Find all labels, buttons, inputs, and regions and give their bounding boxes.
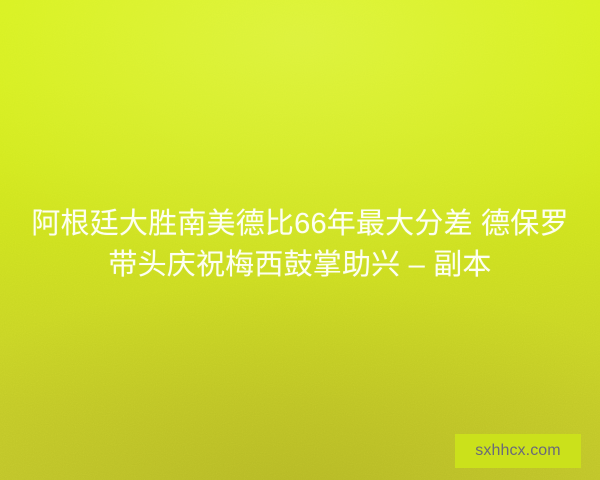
headline-text: 阿根廷大胜南美德比66年最大分差 德保罗带头庆祝梅西鼓掌助兴 – 副本: [0, 204, 600, 286]
watermark-label: sxhhcx.com: [475, 443, 560, 459]
watermark-badge: sxhhcx.com: [455, 434, 581, 468]
image-canvas: 阿根廷大胜南美德比66年最大分差 德保罗带头庆祝梅西鼓掌助兴 – 副本 sxhh…: [0, 0, 600, 480]
